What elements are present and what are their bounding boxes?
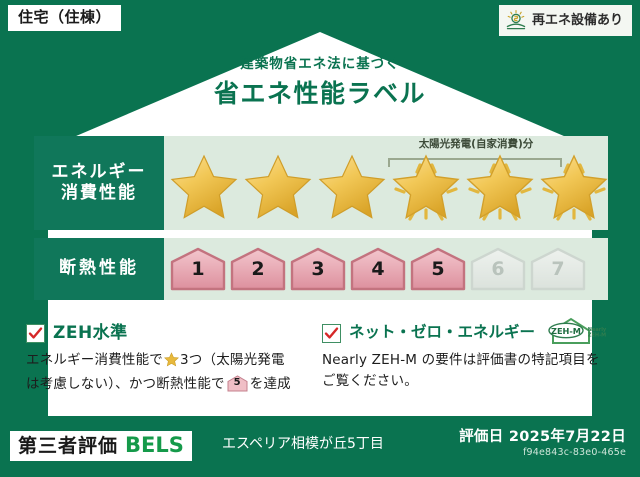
energy-performance-row: エネルギー 消費性能 太陽光発電(自家消費)分: [34, 136, 608, 230]
insulation-level-number: 7: [530, 260, 586, 279]
footer-bar: 第三者評価 BELS エスペリア相模が丘5丁目 評価日 2025年7月22日 f…: [0, 421, 640, 477]
check-icon: [28, 326, 43, 341]
check-icon: [324, 326, 339, 341]
insulation-level-6: 6: [470, 247, 526, 291]
energy-performance-label-box: エネルギー 消費性能: [34, 136, 164, 230]
insulation-level-4: 4: [350, 247, 406, 291]
star-filled: [168, 152, 240, 224]
bels-badge: 第三者評価 BELS: [10, 431, 192, 461]
star-solar: [464, 152, 536, 224]
insulation-level-number: 3: [290, 260, 346, 279]
bels-en-label: BELS: [125, 435, 184, 456]
title-block: 建築物省エネ法に基づく 省エネ性能ラベル: [0, 58, 640, 106]
energy-label-line1: エネルギー: [52, 162, 147, 183]
evaluation-date-value: 2025年7月22日: [509, 429, 626, 445]
energy-label-line2: 消費性能: [61, 183, 137, 204]
criteria-left-text-3: は考慮しない）、かつ断熱性能で: [26, 376, 225, 392]
insulation-performance-row: 断熱性能 1234567: [34, 238, 608, 300]
criteria-left-title: ZEH水準: [53, 325, 128, 342]
star-solar: [390, 152, 462, 224]
star-solar: [538, 152, 610, 224]
insulation-performance-label-box: 断熱性能: [34, 238, 164, 300]
insulation-level-5: 5: [410, 247, 466, 291]
criteria-right-header: ネット・ゼロ・エネルギー ZEH-M Nearly ZEH-M: [322, 322, 610, 344]
evaluation-date-label: 評価日: [459, 429, 503, 445]
star-rating-group: [164, 136, 608, 230]
zeh-m-logo-icon: ZEH-M Nearly ZEH-M: [547, 316, 609, 350]
checkbox-zeh-standard[interactable]: [26, 324, 45, 343]
energy-performance-label: 住宅（住棟） 再エネ設備あり 建築物省エネ法に基づく 省エネ性能ラベル: [0, 0, 640, 477]
insulation-level-2: 2: [230, 247, 286, 291]
title-subtitle: 建築物省エネ法に基づく: [0, 58, 640, 72]
criteria-net-zero-energy: ネット・ゼロ・エネルギー ZEH-M Nearly ZEH-M Nearly Z…: [322, 322, 610, 392]
insulation-level-number: 1: [170, 260, 226, 279]
page-title: 省エネ性能ラベル: [0, 81, 640, 106]
criteria-left-text-1: エネルギー消費性能で: [26, 352, 163, 368]
insulation-levels-area: 1234567: [164, 238, 608, 300]
dwelling-type-tag: 住宅（住棟）: [8, 5, 121, 31]
criteria-right-title: ネット・ゼロ・エネルギー: [349, 325, 535, 341]
checkbox-net-zero-energy[interactable]: [322, 324, 341, 343]
insulation-level-1: 1: [170, 247, 226, 291]
renewable-badge-label: 再エネ設備あり: [532, 14, 623, 27]
bels-jp-label: 第三者評価: [18, 437, 118, 456]
evaluation-info: 評価日 2025年7月22日 f94e843c-83e0-465e: [459, 429, 626, 460]
evaluation-uid: f94e843c-83e0-465e: [459, 446, 626, 459]
inline-house-badge: 5: [227, 375, 248, 392]
criteria-zeh-standard: ZEH水準 エネルギー消費性能で3つ（太陽光発電 は考慮しない）、かつ断熱性能で…: [26, 322, 314, 395]
star-filled: [316, 152, 388, 224]
criteria-right-text: Nearly ZEH-M の要件は評価書の特記項目をご覧ください。: [322, 350, 610, 392]
inline-house-level: 5: [227, 378, 248, 388]
insulation-level-number: 6: [470, 260, 526, 279]
insulation-level-group: 1234567: [164, 238, 608, 300]
insulation-label: 断熱性能: [59, 258, 139, 279]
solar-sun-icon: [505, 9, 527, 31]
insulation-level-number: 2: [230, 260, 286, 279]
criteria-left-text-2: 3つ（太陽光発電: [180, 352, 285, 368]
criteria-left-text: エネルギー消費性能で3つ（太陽光発電 は考慮しない）、かつ断熱性能で5を達成: [26, 350, 314, 395]
svg-text:ZEH-M: ZEH-M: [551, 326, 581, 336]
renewable-equipment-badge: 再エネ設備あり: [499, 5, 632, 36]
insulation-level-3: 3: [290, 247, 346, 291]
inline-star-icon: [164, 352, 179, 374]
insulation-level-number: 4: [350, 260, 406, 279]
svg-text:ZEH-M: ZEH-M: [588, 333, 606, 339]
evaluation-date: 評価日 2025年7月22日: [459, 429, 626, 446]
property-name: エスペリア相模が丘5丁目: [222, 437, 384, 451]
energy-stars-area: 太陽光発電(自家消費)分: [164, 136, 608, 230]
criteria-left-header: ZEH水準: [26, 322, 314, 344]
insulation-level-7: 7: [530, 247, 586, 291]
insulation-level-number: 5: [410, 260, 466, 279]
star-filled: [242, 152, 314, 224]
criteria-left-text-4: を達成: [250, 376, 291, 392]
